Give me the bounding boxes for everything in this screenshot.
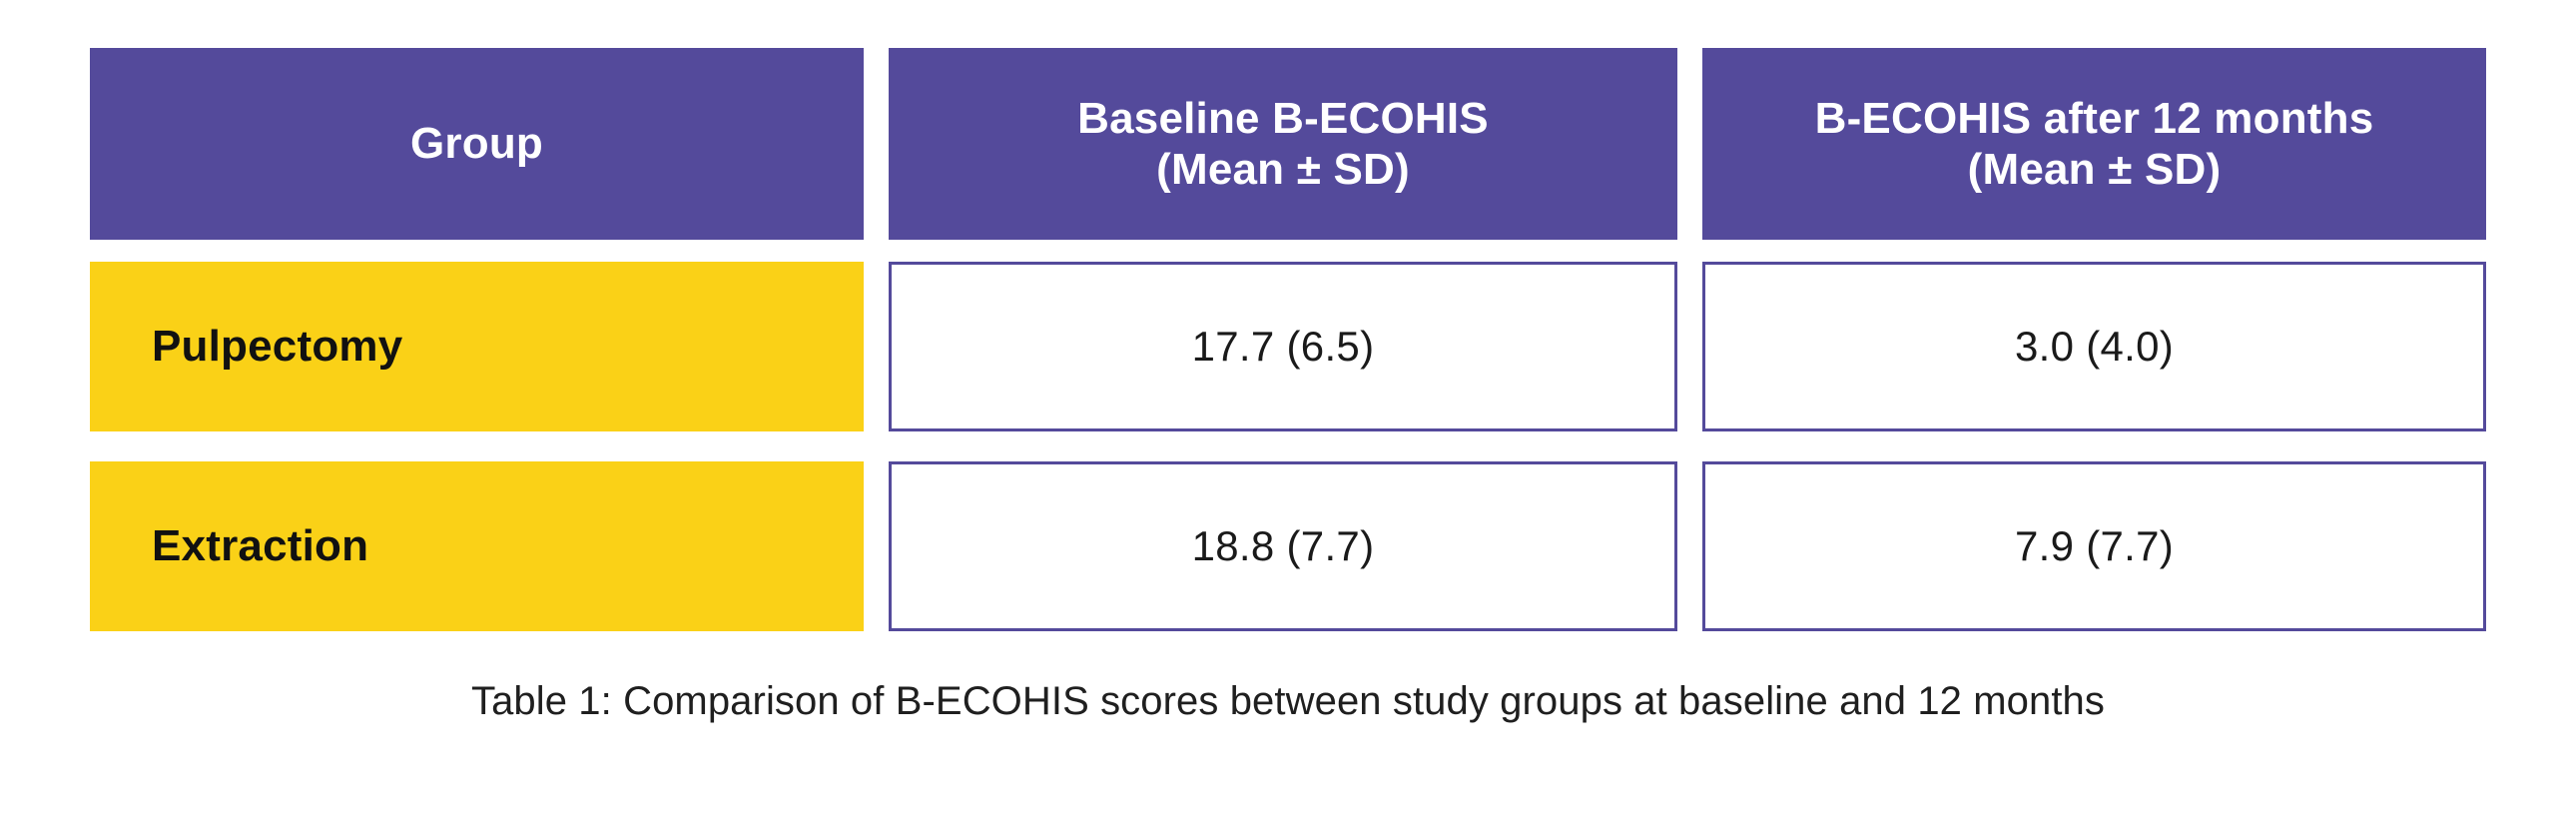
cell-extraction-after12: 7.9 (7.7) bbox=[1702, 461, 2486, 631]
column-header-group: Group bbox=[90, 48, 864, 240]
table-caption: Table 1: Comparison of B-ECOHIS scores b… bbox=[0, 679, 2576, 724]
table-figure: Group Baseline B-ECOHIS (Mean ± SD) B-EC… bbox=[0, 0, 2576, 835]
row-label-text: Pulpectomy bbox=[152, 322, 402, 372]
comparison-table: Group Baseline B-ECOHIS (Mean ± SD) B-EC… bbox=[90, 48, 2486, 631]
table-row: Extraction 18.8 (7.7) 7.9 (7.7) bbox=[90, 461, 2486, 631]
table-header-row: Group Baseline B-ECOHIS (Mean ± SD) B-EC… bbox=[90, 48, 2486, 240]
cell-value-text: 7.9 (7.7) bbox=[2015, 522, 2174, 570]
row-label-pulpectomy: Pulpectomy bbox=[90, 262, 864, 431]
row-label-text: Extraction bbox=[152, 521, 368, 571]
cell-pulpectomy-baseline: 17.7 (6.5) bbox=[889, 262, 1677, 431]
row-label-extraction: Extraction bbox=[90, 461, 864, 631]
cell-value-text: 3.0 (4.0) bbox=[2015, 323, 2174, 371]
cell-value-text: 18.8 (7.7) bbox=[1192, 522, 1375, 570]
column-header-baseline-label: Baseline B-ECOHIS bbox=[1077, 93, 1489, 144]
column-header-group-label: Group bbox=[410, 118, 543, 169]
column-header-baseline: Baseline B-ECOHIS (Mean ± SD) bbox=[889, 48, 1677, 240]
table-row: Pulpectomy 17.7 (6.5) 3.0 (4.0) bbox=[90, 262, 2486, 431]
cell-extraction-baseline: 18.8 (7.7) bbox=[889, 461, 1677, 631]
cell-pulpectomy-after12: 3.0 (4.0) bbox=[1702, 262, 2486, 431]
column-header-after12-sublabel: (Mean ± SD) bbox=[1815, 144, 2374, 195]
column-header-baseline-sublabel: (Mean ± SD) bbox=[1077, 144, 1489, 195]
column-header-after12: B-ECOHIS after 12 months (Mean ± SD) bbox=[1702, 48, 2486, 240]
column-header-after12-label: B-ECOHIS after 12 months bbox=[1815, 93, 2374, 144]
cell-value-text: 17.7 (6.5) bbox=[1192, 323, 1375, 371]
